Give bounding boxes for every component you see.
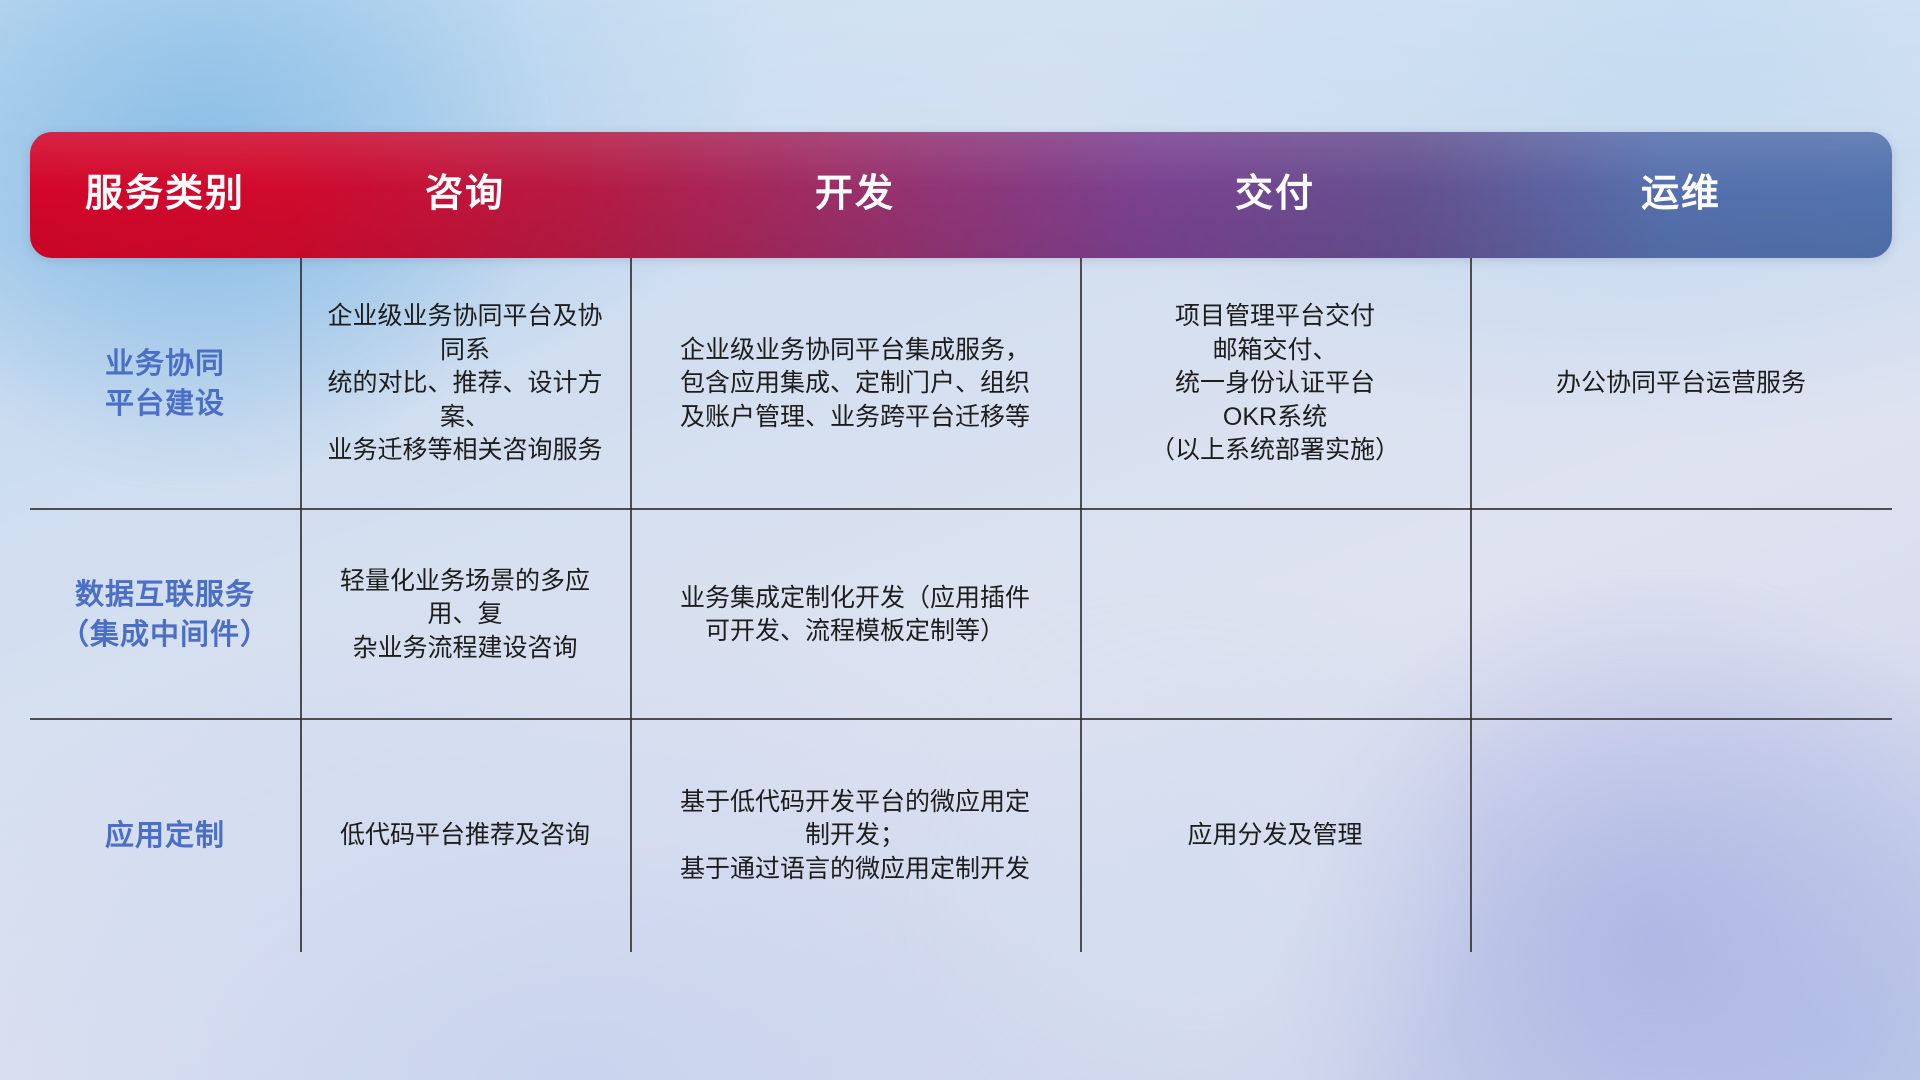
table-cell-development: 基于低代码开发平台的微应用定 制开发； 基于通过语言的微应用定制开发 bbox=[630, 720, 1080, 952]
table-cell-development: 企业级业务协同平台集成服务， 包含应用集成、定制门户、组织 及账户管理、业务跨平… bbox=[630, 258, 1080, 510]
table-row: 数据互联服务 （集成中间件） 轻量化业务场景的多应用、复 杂业务流程建设咨询 业… bbox=[30, 510, 1892, 720]
table-cell-category: 数据互联服务 （集成中间件） bbox=[30, 510, 300, 720]
table-cell-consulting: 低代码平台推荐及咨询 bbox=[300, 720, 630, 952]
table-cell-delivery: 应用分发及管理 bbox=[1080, 720, 1470, 952]
table-cell-category: 业务协同 平台建设 bbox=[30, 258, 300, 510]
table-cell-delivery bbox=[1080, 510, 1470, 720]
service-category-table: 服务类别 咨询 开发 交付 运维 业务协同 平台建设 企业级业务协同平台及协同系… bbox=[30, 132, 1892, 952]
table-cell-operations bbox=[1470, 510, 1892, 720]
table-cell-operations bbox=[1470, 720, 1892, 952]
table-cell-operations: 办公协同平台运营服务 bbox=[1470, 258, 1892, 510]
table-header-cell-consulting: 咨询 bbox=[300, 174, 630, 216]
table-header-cell-operations: 运维 bbox=[1470, 174, 1892, 216]
table-row: 业务协同 平台建设 企业级业务协同平台及协同系 统的对比、推荐、设计方案、 业务… bbox=[30, 258, 1892, 510]
table-cell-category: 应用定制 bbox=[30, 720, 300, 952]
table-header-cell-delivery: 交付 bbox=[1080, 174, 1470, 216]
table-body: 业务协同 平台建设 企业级业务协同平台及协同系 统的对比、推荐、设计方案、 业务… bbox=[30, 258, 1892, 952]
table-header-cell-development: 开发 bbox=[630, 174, 1080, 216]
table-cell-consulting: 企业级业务协同平台及协同系 统的对比、推荐、设计方案、 业务迁移等相关咨询服务 bbox=[300, 258, 630, 510]
table-cell-development: 业务集成定制化开发（应用插件 可开发、流程模板定制等） bbox=[630, 510, 1080, 720]
table-cell-consulting: 轻量化业务场景的多应用、复 杂业务流程建设咨询 bbox=[300, 510, 630, 720]
table-cell-delivery: 项目管理平台交付 邮箱交付、 统一身份认证平台 OKR系统 （以上系统部署实施） bbox=[1080, 258, 1470, 510]
table-header-cell-category: 服务类别 bbox=[30, 174, 300, 216]
table-row: 应用定制 低代码平台推荐及咨询 基于低代码开发平台的微应用定 制开发； 基于通过… bbox=[30, 720, 1892, 952]
table-header-row: 服务类别 咨询 开发 交付 运维 bbox=[30, 132, 1892, 258]
